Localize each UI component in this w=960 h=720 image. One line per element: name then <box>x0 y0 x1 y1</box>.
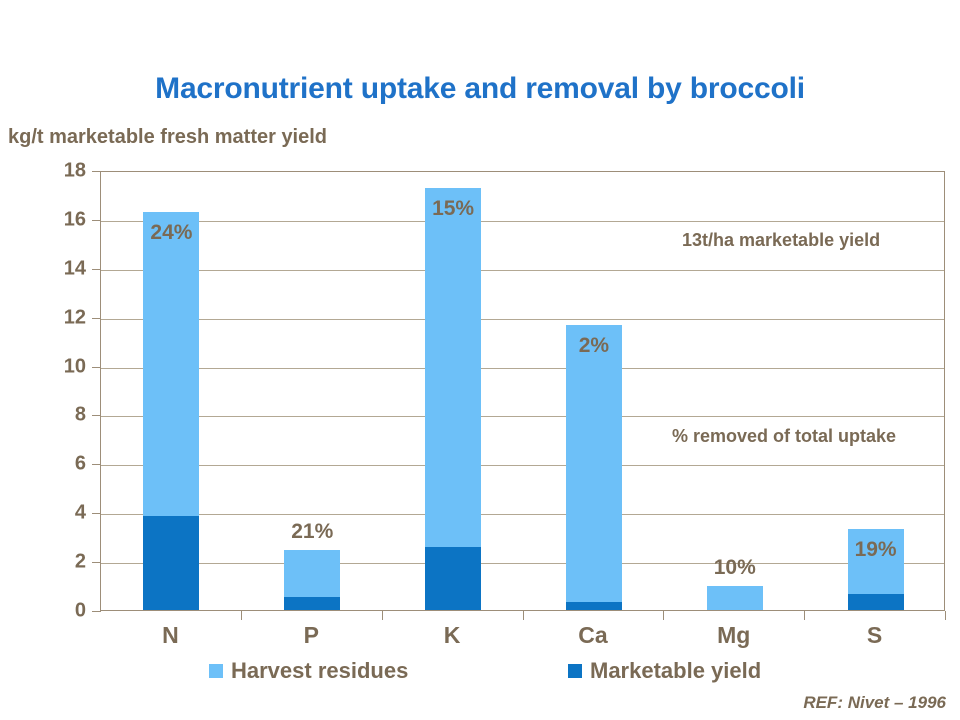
bar-group[interactable]: 2% <box>566 170 622 610</box>
legend-swatch-marketable-yield <box>568 664 582 678</box>
y-axis-tick-label: 6 <box>24 453 86 476</box>
gridline <box>101 465 944 466</box>
y-axis-tick-label: 14 <box>24 257 86 280</box>
legend-item-harvest-residues[interactable]: Harvest residues <box>209 658 408 684</box>
bar-segment-marketable-yield[interactable] <box>566 602 622 610</box>
gridline <box>101 514 944 515</box>
y-axis-tick-label: 12 <box>24 306 86 329</box>
annotation-removed-note: % removed of total uptake <box>672 426 896 447</box>
x-axis-tick-mark <box>804 611 805 620</box>
x-axis-label-n: N <box>110 622 230 649</box>
x-axis-label-ca: Ca <box>533 622 653 649</box>
legend-label-harvest-residues: Harvest residues <box>231 658 408 684</box>
y-axis-unit-caption: kg/t marketable fresh matter yield <box>8 126 327 149</box>
legend-item-marketable-yield[interactable]: Marketable yield <box>568 658 761 684</box>
y-axis-tick-label: 0 <box>24 600 86 623</box>
gridline <box>101 319 944 320</box>
x-axis-tick-mark <box>241 611 242 620</box>
bar-value-label: 15% <box>432 197 474 221</box>
gridline <box>101 368 944 369</box>
bar-value-label: 10% <box>714 556 756 580</box>
gridline <box>101 563 944 564</box>
plot-area: 24%21%15%2%10%19% 13t/ha marketable yiel… <box>100 171 945 611</box>
bar-segment-marketable-yield[interactable] <box>284 597 340 610</box>
source-reference: REF: Nivet – 1996 <box>803 693 946 713</box>
x-axis-tick-mark <box>382 611 383 620</box>
y-axis-tick-label: 8 <box>24 404 86 427</box>
bar-group[interactable]: 24% <box>143 170 199 610</box>
gridline <box>101 416 944 417</box>
y-axis-tick-mark <box>92 611 101 612</box>
y-axis-tick-label: 16 <box>24 208 86 231</box>
x-axis-tick-mark <box>523 611 524 620</box>
bar-value-label: 19% <box>855 538 897 562</box>
x-axis-tick-mark <box>663 611 664 620</box>
bar-segment-harvest-residues[interactable] <box>707 586 763 610</box>
x-axis-label-mg: Mg <box>674 622 794 649</box>
bar-group[interactable]: 15% <box>425 170 481 610</box>
chart-canvas: Macronutrient uptake and removal by broc… <box>0 0 960 720</box>
bar-value-label: 21% <box>291 520 333 544</box>
bar-segment-marketable-yield[interactable] <box>848 594 904 610</box>
bar-segment-harvest-residues[interactable] <box>143 212 199 516</box>
gridline <box>101 270 944 271</box>
bar-segment-marketable-yield[interactable] <box>425 547 481 610</box>
y-axis-tick-label: 18 <box>24 160 86 183</box>
y-axis-tick-label: 4 <box>24 502 86 525</box>
legend-swatch-harvest-residues <box>209 664 223 678</box>
bar-segment-harvest-residues[interactable] <box>284 550 340 597</box>
y-axis-tick-label: 10 <box>24 355 86 378</box>
x-axis-label-s: S <box>815 622 935 649</box>
bar-value-label: 24% <box>150 221 192 245</box>
x-axis-label-k: K <box>392 622 512 649</box>
chart-title: Macronutrient uptake and removal by broc… <box>0 72 960 106</box>
gridline <box>101 221 944 222</box>
y-axis-tick-label: 2 <box>24 551 86 574</box>
bar-group[interactable]: 21% <box>284 170 340 610</box>
bar-segment-harvest-residues[interactable] <box>566 325 622 602</box>
chart-legend: Harvest residues Marketable yield <box>0 658 960 690</box>
legend-label-marketable-yield: Marketable yield <box>590 658 761 684</box>
x-axis-label-p: P <box>251 622 371 649</box>
bar-segment-harvest-residues[interactable] <box>425 188 481 547</box>
annotation-yield-note: 13t/ha marketable yield <box>682 230 880 251</box>
bar-segment-marketable-yield[interactable] <box>143 516 199 610</box>
x-axis-tick-mark <box>945 611 946 620</box>
bar-value-label: 2% <box>579 334 609 358</box>
